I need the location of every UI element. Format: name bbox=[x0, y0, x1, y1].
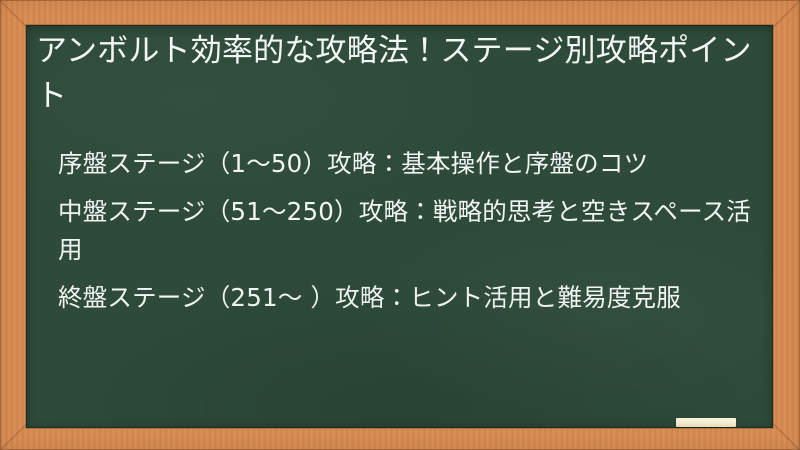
list-item: 序盤ステージ（1〜50）攻略：基本操作と序盤のコツ bbox=[36, 145, 752, 183]
board-title: アンボルト効率的な攻略法！ステージ別攻略ポイント bbox=[36, 29, 762, 119]
list-item: 中盤ステージ（51〜250）攻略：戦略的思考と空きスペース活用 bbox=[36, 193, 752, 269]
slide-canvas: アンボルト効率的な攻略法！ステージ別攻略ポイント 序盤ステージ（1〜50）攻略：… bbox=[0, 0, 800, 450]
chalk-stick-icon bbox=[676, 418, 736, 427]
chalkboard-surface: アンボルト効率的な攻略法！ステージ別攻略ポイント 序盤ステージ（1〜50）攻略：… bbox=[26, 25, 773, 428]
list-item: 終盤ステージ（251〜 ）攻略：ヒント活用と難易度克服 bbox=[36, 279, 752, 317]
chalkboard-content: アンボルト効率的な攻略法！ステージ別攻略ポイント 序盤ステージ（1〜50）攻略：… bbox=[26, 25, 773, 428]
stage-guide-list: 序盤ステージ（1〜50）攻略：基本操作と序盤のコツ 中盤ステージ（51〜250）… bbox=[36, 145, 752, 327]
